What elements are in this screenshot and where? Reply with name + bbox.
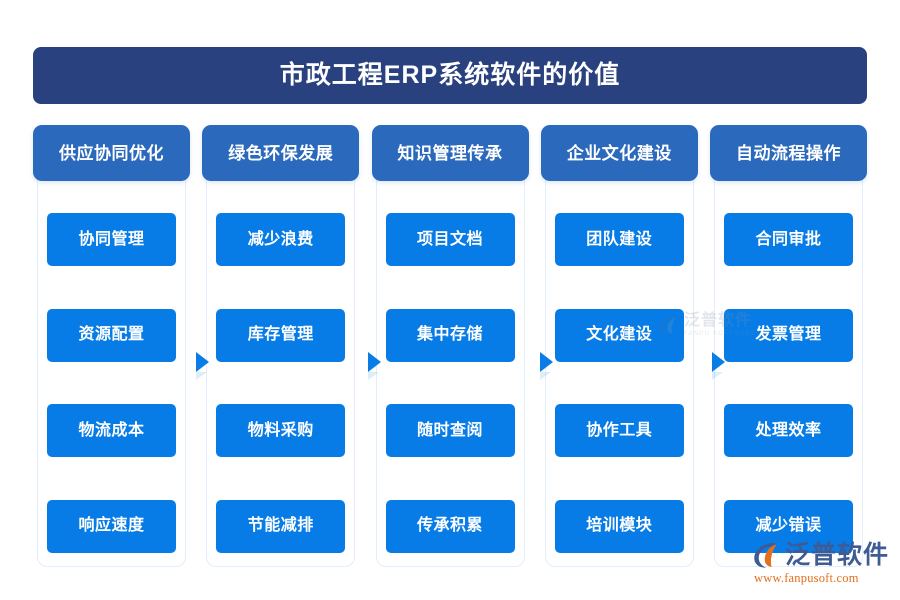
- column-1: 供应协同优化 协同管理 资源配置 物流成本 响应速度: [33, 125, 190, 569]
- flow-arrow-shadow-2: [368, 372, 379, 380]
- flow-arrow-right-icon: [540, 352, 553, 372]
- item-box[interactable]: 传承积累: [386, 500, 515, 553]
- infographic-canvas: 市政工程ERP系统软件的价值 供应协同优化 协同管理 资源配置 物流成本 响应速: [0, 0, 900, 600]
- item-box[interactable]: 随时查阅: [386, 404, 515, 457]
- flow-arrow-shadow-3: [540, 372, 551, 380]
- flow-arrow-right-icon: [368, 352, 381, 372]
- flow-arrow-shadow-4: [712, 372, 723, 380]
- item-box[interactable]: 资源配置: [47, 309, 176, 362]
- column-header-4[interactable]: 企业文化建设: [541, 125, 698, 181]
- page-title: 市政工程ERP系统软件的价值: [280, 63, 620, 88]
- item-label: 减少浪费: [248, 232, 314, 248]
- columns-container: 供应协同优化 协同管理 资源配置 物流成本 响应速度 绿色: [33, 125, 867, 569]
- column-header-label-2: 绿色环保发展: [228, 145, 333, 162]
- item-label: 资源配置: [78, 327, 144, 343]
- item-label: 项目文档: [417, 232, 483, 248]
- item-box[interactable]: 响应速度: [47, 500, 176, 553]
- item-label: 物料采购: [248, 423, 314, 439]
- item-label: 传承积累: [417, 518, 483, 534]
- column-5: 自动流程操作 合同审批 发票管理 处理效率 减少错误: [710, 125, 867, 569]
- column-header-label-3: 知识管理传承: [398, 145, 503, 162]
- column-header-1[interactable]: 供应协同优化: [33, 125, 190, 181]
- column-items-3: 项目文档 集中存储 随时查阅 传承积累: [386, 213, 515, 553]
- item-label: 减少错误: [755, 518, 821, 534]
- brand-logo-url: www.fanpusoft.com: [754, 572, 859, 585]
- item-box[interactable]: 发票管理: [724, 309, 853, 362]
- item-box[interactable]: 集中存储: [386, 309, 515, 362]
- column-items-1: 协同管理 资源配置 物流成本 响应速度: [47, 213, 176, 553]
- item-label: 协作工具: [586, 423, 652, 439]
- column-header-label-1: 供应协同优化: [59, 145, 164, 162]
- item-label: 发票管理: [755, 327, 821, 343]
- column-header-label-4: 企业文化建设: [567, 145, 672, 162]
- item-box[interactable]: 团队建设: [555, 213, 684, 266]
- item-label: 文化建设: [586, 327, 652, 343]
- item-label: 响应速度: [78, 518, 144, 534]
- column-header-5[interactable]: 自动流程操作: [710, 125, 867, 181]
- item-label: 处理效率: [755, 423, 821, 439]
- brand-logo-row: 泛普软件: [752, 540, 889, 570]
- item-box[interactable]: 减少浪费: [216, 213, 345, 266]
- brand-logo: 泛普软件 www.fanpusoft.com: [752, 540, 889, 585]
- item-box[interactable]: 处理效率: [724, 404, 853, 457]
- flow-arrow-right-icon: [712, 352, 725, 372]
- column-items-5: 合同审批 发票管理 处理效率 减少错误: [724, 213, 853, 553]
- item-box[interactable]: 库存管理: [216, 309, 345, 362]
- column-2: 绿色环保发展 减少浪费 库存管理 物料采购 节能减排: [202, 125, 359, 569]
- item-label: 团队建设: [586, 232, 652, 248]
- title-banner: 市政工程ERP系统软件的价值: [33, 47, 867, 104]
- flow-arrow-right-icon: [196, 352, 209, 372]
- item-box[interactable]: 培训模块: [555, 500, 684, 553]
- column-items-4: 团队建设 文化建设 协作工具 培训模块: [555, 213, 684, 553]
- item-box[interactable]: 合同审批: [724, 213, 853, 266]
- column-header-2[interactable]: 绿色环保发展: [202, 125, 359, 181]
- column-items-2: 减少浪费 库存管理 物料采购 节能减排: [216, 213, 345, 553]
- item-label: 节能减排: [248, 518, 314, 534]
- item-label: 库存管理: [248, 327, 314, 343]
- item-label: 随时查阅: [417, 423, 483, 439]
- column-header-3[interactable]: 知识管理传承: [372, 125, 529, 181]
- item-label: 协同管理: [78, 232, 144, 248]
- fanpu-logo-icon: [752, 540, 782, 570]
- item-label: 合同审批: [755, 232, 821, 248]
- item-label: 集中存储: [417, 327, 483, 343]
- item-box[interactable]: 物流成本: [47, 404, 176, 457]
- item-label: 培训模块: [586, 518, 652, 534]
- flow-arrow-shadow-1: [196, 372, 207, 380]
- column-3: 知识管理传承 项目文档 集中存储 随时查阅 传承积累: [372, 125, 529, 569]
- item-box[interactable]: 文化建设: [555, 309, 684, 362]
- item-box[interactable]: 节能减排: [216, 500, 345, 553]
- item-box[interactable]: 协同管理: [47, 213, 176, 266]
- item-label: 物流成本: [78, 423, 144, 439]
- column-header-label-5: 自动流程操作: [736, 145, 841, 162]
- item-box[interactable]: 项目文档: [386, 213, 515, 266]
- item-box[interactable]: 物料采购: [216, 404, 345, 457]
- brand-logo-cn: 泛普软件: [785, 543, 889, 568]
- column-4: 企业文化建设 团队建设 文化建设 协作工具 培训模块: [541, 125, 698, 569]
- item-box[interactable]: 协作工具: [555, 404, 684, 457]
